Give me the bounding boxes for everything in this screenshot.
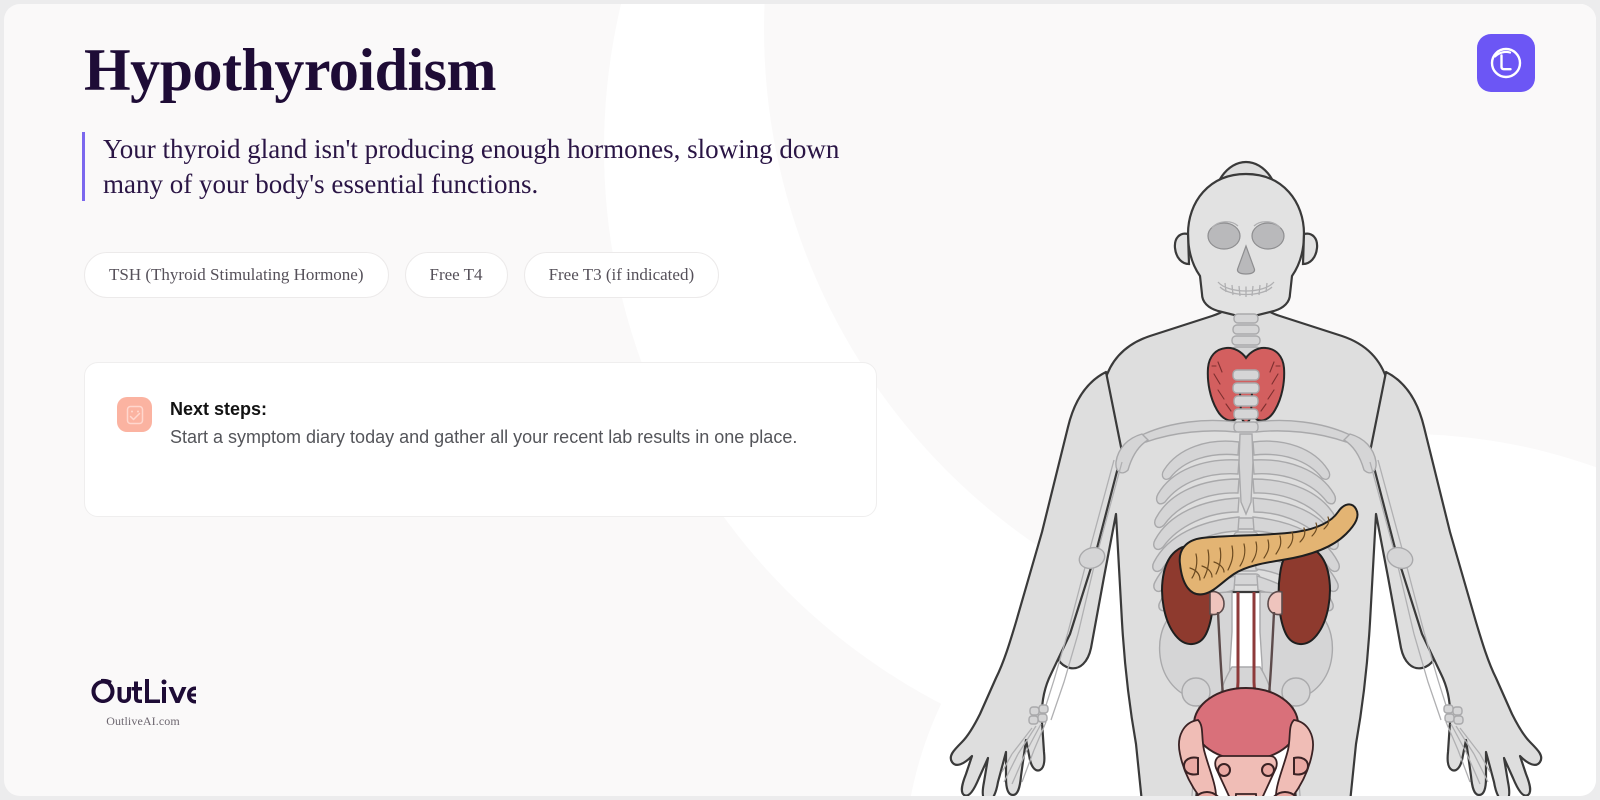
page-subtitle: Your thyroid gland isn't producing enoug… [103,132,842,201]
subtitle-block: Your thyroid gland isn't producing enoug… [82,132,842,201]
human-anatomy-illustration: .body-fill { fill:#dedede; stroke:#3a3a3… [946,122,1546,796]
outlive-circle-l-icon [1488,45,1524,81]
chip-tsh[interactable]: TSH (Thyroid Stimulating Hormone) [84,252,389,298]
left-content-column: Hypothyroidism Your thyroid gland isn't … [4,4,924,796]
next-steps-title: Next steps: [170,396,797,422]
page-canvas: .body-fill { fill:#dedede; stroke:#3a3a3… [4,4,1596,796]
outlive-logo-badge[interactable] [1477,34,1535,92]
chip-free-t4[interactable]: Free T4 [405,252,508,298]
brand-url: OutliveAI.com [88,714,198,729]
checklist-clipboard-icon [117,397,152,432]
outlive-wordmark [88,676,198,709]
chip-free-t3[interactable]: Free T3 (if indicated) [524,252,720,298]
footer-branding: OutliveAI.com [88,676,198,729]
page-title: Hypothyroidism [84,34,496,106]
next-steps-body: Next steps: Start a symptom diary today … [170,395,797,486]
next-steps-text: Start a symptom diary today and gather a… [170,424,797,452]
next-steps-card: Next steps: Start a symptom diary today … [84,362,877,517]
lab-test-chip-list: TSH (Thyroid Stimulating Hormone) Free T… [84,252,719,298]
